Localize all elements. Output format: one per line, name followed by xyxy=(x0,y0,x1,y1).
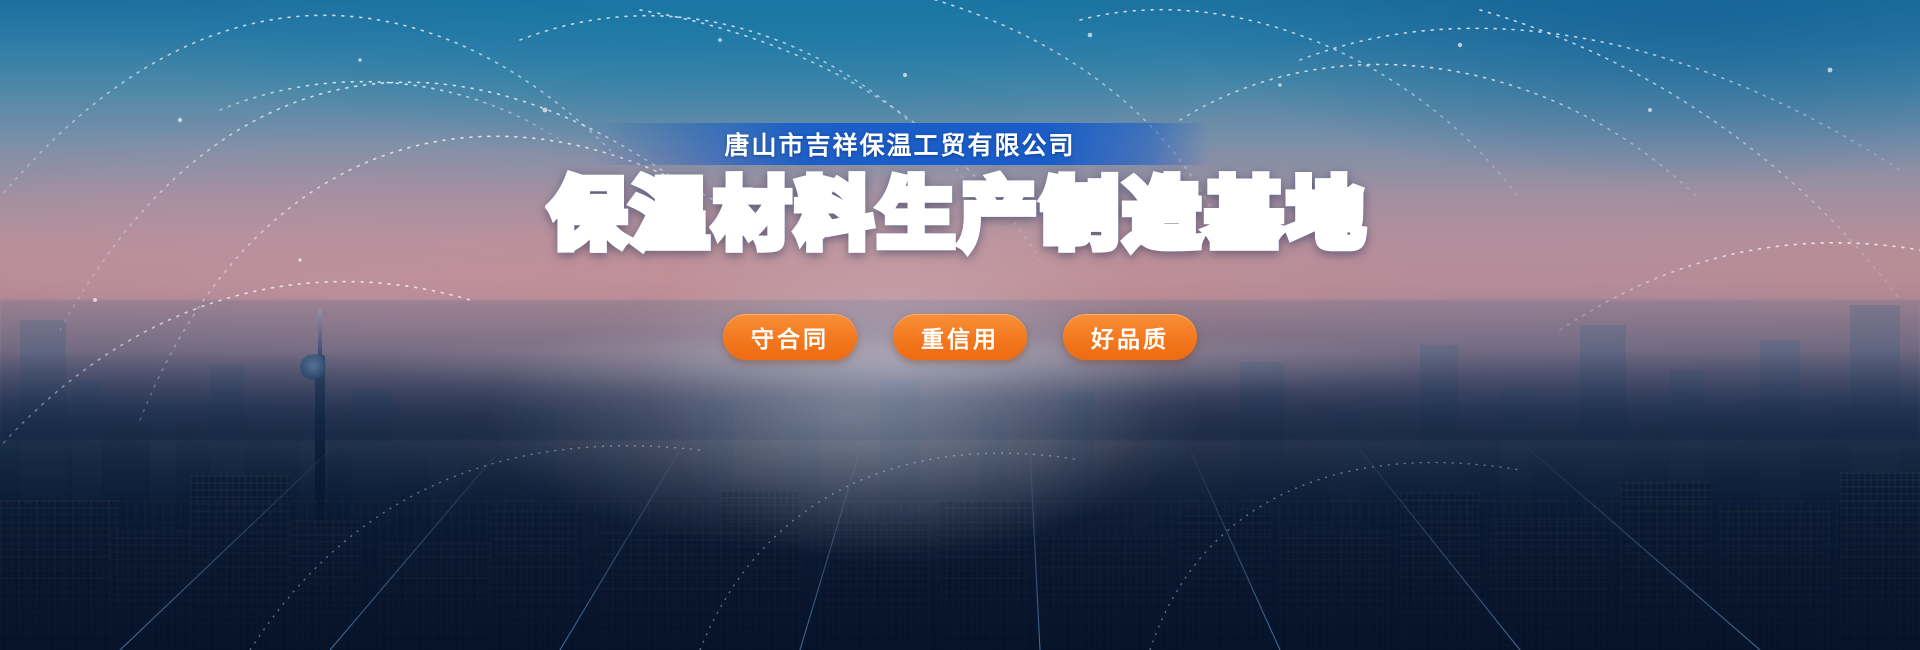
feature-tag-2[interactable]: 重信用 xyxy=(893,314,1027,360)
feature-tag-label: 好品质 xyxy=(1091,320,1169,354)
feature-tag-1[interactable]: 守合同 xyxy=(723,314,857,360)
company-name: 唐山市吉祥保温工贸有限公司 xyxy=(724,126,1075,162)
feature-tag-label: 守合同 xyxy=(751,320,829,354)
company-name-bar: 唐山市吉祥保温工贸有限公司 xyxy=(590,123,1210,165)
hero-banner: 唐山市吉祥保温工贸有限公司 保温材料生产制造基地 守合同 重信用 好品质 xyxy=(0,0,1920,650)
feature-tag-label: 重信用 xyxy=(921,320,999,354)
page-title: 保温材料生产制造基地 xyxy=(550,178,1370,254)
headline-wrap: 保温材料生产制造基地 xyxy=(0,178,1920,254)
feature-tag-list: 守合同 重信用 好品质 xyxy=(0,314,1920,360)
feature-tag-3[interactable]: 好品质 xyxy=(1063,314,1197,360)
banner-content: 唐山市吉祥保温工贸有限公司 保温材料生产制造基地 守合同 重信用 好品质 xyxy=(0,0,1920,650)
